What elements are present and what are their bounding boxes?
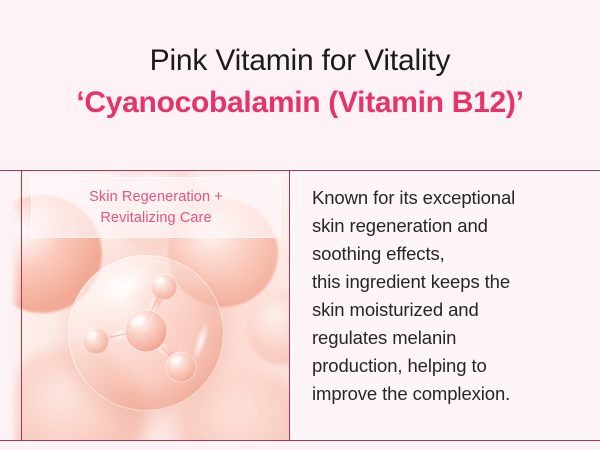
divider-bottom <box>0 440 600 441</box>
page-title: Pink Vitamin for Vitality <box>150 43 451 78</box>
description-line: this ingredient keeps the <box>312 268 588 296</box>
status-badge: Skin Regeneration + Revitalizing Care <box>31 177 281 238</box>
background-bubble-6 <box>246 291 290 365</box>
description-line: skin moisturized and <box>312 296 588 324</box>
description-line: soothing effects, <box>312 240 588 268</box>
image-left-rule <box>21 171 22 440</box>
image-left-fade <box>0 171 22 440</box>
description-line: improve the complexion. <box>312 380 588 408</box>
description-line: skin regeneration and <box>312 212 588 240</box>
description-line: Known for its exceptional <box>312 184 588 212</box>
description-line: production, helping to <box>312 352 588 380</box>
ingredient-image: Skin Regeneration + Revitalizing Care <box>0 171 290 440</box>
main-bubble-sphere <box>68 255 224 411</box>
badge-line-2: Revitalizing Care <box>100 208 211 229</box>
ingredient-info-card: Pink Vitamin for Vitality ‘Cyanocobalami… <box>0 0 600 450</box>
card-header: Pink Vitamin for Vitality ‘Cyanocobalami… <box>0 0 600 170</box>
description-line: regulates melanin <box>312 324 588 352</box>
badge-line-1: Skin Regeneration + <box>89 187 223 208</box>
content-band: Skin Regeneration + Revitalizing Care Kn… <box>0 171 600 440</box>
page-subtitle: ‘Cyanocobalamin (Vitamin B12)’ <box>76 85 523 121</box>
description-panel: Known for its exceptional skin regenerat… <box>290 171 600 440</box>
